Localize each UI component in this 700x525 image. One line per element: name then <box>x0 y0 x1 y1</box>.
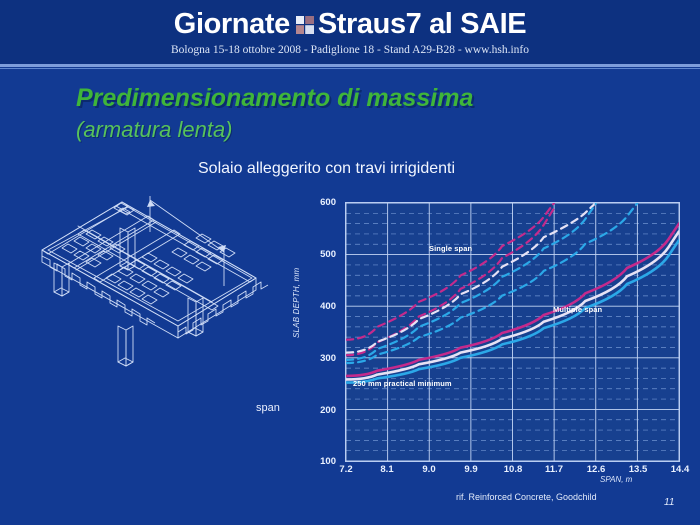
chart-x-tick: 10.8 <box>496 464 530 475</box>
chart-x-tick: 8.1 <box>370 464 404 475</box>
slide-header-banner: GiornateStraus7 al SAIE Bologna 15-18 ot… <box>0 0 700 66</box>
footer-reference: rif. Reinforced Concrete, Goodchild <box>456 492 597 502</box>
chart-y-tick: 600 <box>306 197 336 208</box>
chart-y-tick: 400 <box>306 301 336 312</box>
isometric-waffle-slab-diagram: span <box>28 186 304 416</box>
chart-x-tick: 9.9 <box>454 464 488 475</box>
annotation-multiple-span: Multiple span <box>553 305 602 314</box>
chart-x-tick: 12.6 <box>579 464 613 475</box>
straus7-squares-icon <box>296 10 316 30</box>
header-title-pre: Giornate <box>174 8 290 40</box>
section-caption: Solaio alleggerito con travi irrigidenti <box>198 160 455 178</box>
chart-x-tick: 14.4 <box>663 464 697 475</box>
page-subtitle: (armatura lenta) <box>76 117 233 143</box>
chart-plot-area <box>345 202 680 462</box>
chart-y-tick: 500 <box>306 249 336 260</box>
chart-y-tick: 200 <box>306 405 336 416</box>
chart-x-tick: 13.5 <box>621 464 655 475</box>
annotation-practical-min: 250 mm practical minimum <box>353 379 452 388</box>
header-title-post: Straus7 al SAIE <box>318 8 526 40</box>
span-dimension-label: span <box>256 402 280 414</box>
page-number: 11 <box>664 497 674 508</box>
header-divider <box>0 64 700 67</box>
chart-y-tick: 300 <box>306 353 336 364</box>
header-title: GiornateStraus7 al SAIE <box>0 8 700 41</box>
chart-y-axis-label: SLAB DEPTH, mm <box>292 268 301 338</box>
chart-x-tick: 9.0 <box>412 464 446 475</box>
header-subtitle: Bologna 15-18 ottobre 2008 - Padiglione … <box>0 44 700 56</box>
header-divider-thin <box>0 68 700 69</box>
chart-x-tick: 7.2 <box>329 464 363 475</box>
slab-depth-vs-span-chart: SLAB DEPTH, mm SPAN, m 600 500 400 300 2… <box>300 190 684 490</box>
annotation-single-span: Single span <box>429 244 472 253</box>
chart-plot-svg <box>346 203 679 461</box>
chart-x-tick: 11.7 <box>537 464 571 475</box>
chart-x-axis-label: SPAN, m <box>600 475 632 484</box>
page-title: Predimensionamento di massima <box>76 84 473 113</box>
slide-root: { "header": { "title_pre": "Giornate", "… <box>0 0 700 525</box>
